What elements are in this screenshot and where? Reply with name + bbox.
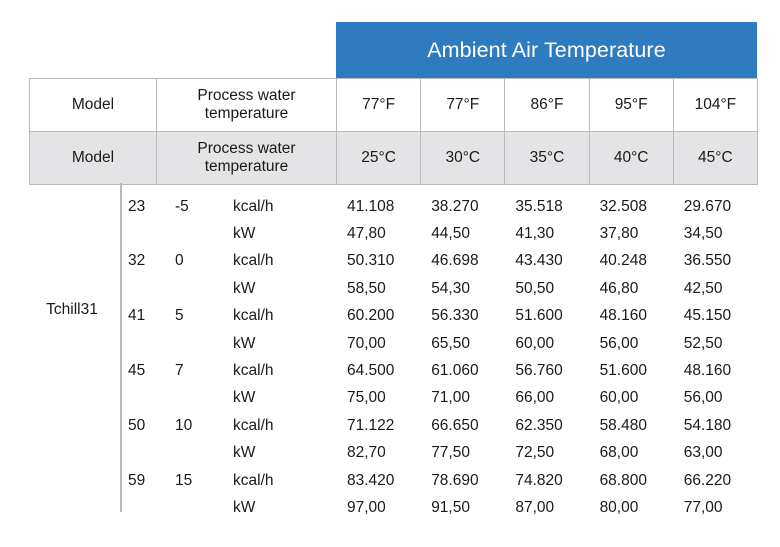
table-row: 5010kcal/h71.12266.65062.35058.48054.180 bbox=[29, 412, 757, 439]
cell-capacity-value: 65,50 bbox=[420, 330, 504, 357]
table-row: 5915kcal/h83.42078.69074.82068.80066.220 bbox=[29, 467, 757, 494]
cell-capacity-value: 71,00 bbox=[420, 385, 504, 412]
header-model-celsius: Model bbox=[30, 132, 157, 185]
row-spacer bbox=[29, 440, 120, 467]
row-spacer bbox=[29, 357, 120, 384]
table-row: kW47,8044,5041,3037,8034,50 bbox=[29, 220, 757, 247]
cell-capacity-value: 60.200 bbox=[336, 303, 420, 330]
cell-capacity-value: 66.220 bbox=[673, 467, 757, 494]
cell-capacity-value: 44,50 bbox=[420, 220, 504, 247]
cell-model bbox=[120, 220, 163, 247]
cell-capacity-value: 75,00 bbox=[336, 385, 420, 412]
cell-capacity-value: 82,70 bbox=[336, 440, 420, 467]
cell-process-water-temperature bbox=[163, 330, 219, 357]
row-spacer bbox=[29, 220, 120, 247]
cell-capacity-value: 78.690 bbox=[420, 467, 504, 494]
cell-model bbox=[120, 330, 163, 357]
header-model-fahrenheit: Model bbox=[30, 79, 157, 132]
cell-model: 59 bbox=[120, 467, 163, 494]
table-row: kW58,5054,3050,5046,8042,50 bbox=[29, 275, 757, 302]
cell-capacity-value: 47,80 bbox=[336, 220, 420, 247]
cell-capacity-value: 56.760 bbox=[504, 357, 588, 384]
cell-process-water-temperature bbox=[163, 275, 219, 302]
table-row: 23-5kcal/h41.10838.27035.51832.50829.670 bbox=[29, 193, 757, 220]
cell-process-water-temperature: 15 bbox=[163, 467, 219, 494]
cell-capacity-value: 61.060 bbox=[420, 357, 504, 384]
table-header: Model Process water temperature 77°F 77°… bbox=[29, 78, 758, 185]
specification-table-sheet: Ambient Air Temperature Model Process wa… bbox=[0, 0, 780, 547]
header-process-water-fahrenheit: Process water temperature bbox=[157, 79, 337, 132]
cell-capacity-value: 48.160 bbox=[673, 357, 757, 384]
cell-unit: kW bbox=[219, 220, 336, 247]
cell-unit: kcal/h bbox=[219, 248, 336, 275]
cell-capacity-value: 50,50 bbox=[504, 275, 588, 302]
cell-unit: kcal/h bbox=[219, 467, 336, 494]
table-body: 23-5kcal/h41.10838.27035.51832.50829.670… bbox=[29, 183, 757, 522]
cell-capacity-value: 64.500 bbox=[336, 357, 420, 384]
cell-process-water-temperature bbox=[163, 385, 219, 412]
header-process-water-label-f: Process water temperature bbox=[157, 87, 336, 124]
cell-capacity-value: 51.600 bbox=[504, 303, 588, 330]
cell-capacity-value: 60,00 bbox=[589, 385, 673, 412]
cell-unit: kcal/h bbox=[219, 193, 336, 220]
cell-capacity-value: 70,00 bbox=[336, 330, 420, 357]
cell-process-water-temperature: 7 bbox=[163, 357, 219, 384]
cell-process-water-temperature: 0 bbox=[163, 248, 219, 275]
cell-capacity-value: 37,80 bbox=[589, 220, 673, 247]
header-row-celsius: Model Process water temperature 25°C 30°… bbox=[30, 132, 758, 185]
row-spacer bbox=[29, 494, 120, 521]
row-spacer bbox=[29, 412, 120, 439]
header-temp-f-1: 77°F bbox=[337, 79, 421, 132]
header-process-water-celsius: Process water temperature bbox=[157, 132, 337, 185]
ambient-air-temperature-banner: Ambient Air Temperature bbox=[336, 22, 757, 78]
cell-capacity-value: 36.550 bbox=[673, 248, 757, 275]
cell-capacity-value: 41.108 bbox=[336, 193, 420, 220]
cell-model bbox=[120, 275, 163, 302]
cell-unit: kW bbox=[219, 275, 336, 302]
cell-capacity-value: 58,50 bbox=[336, 275, 420, 302]
cell-model: 41 bbox=[120, 303, 163, 330]
cell-capacity-value: 71.122 bbox=[336, 412, 420, 439]
cell-unit: kcal/h bbox=[219, 357, 336, 384]
cell-capacity-value: 52,50 bbox=[673, 330, 757, 357]
cell-capacity-value: 51.600 bbox=[589, 357, 673, 384]
cell-capacity-value: 54.180 bbox=[673, 412, 757, 439]
row-spacer bbox=[29, 467, 120, 494]
table-body-area: Tchill31 23-5kcal/h41.10838.27035.51832.… bbox=[29, 183, 757, 523]
header-temp-f-3: 86°F bbox=[505, 79, 589, 132]
cell-capacity-value: 68.800 bbox=[589, 467, 673, 494]
table-row: kW75,0071,0066,0060,0056,00 bbox=[29, 385, 757, 412]
cell-model: 23 bbox=[120, 193, 163, 220]
cell-capacity-value: 74.820 bbox=[504, 467, 588, 494]
cell-capacity-value: 42,50 bbox=[673, 275, 757, 302]
cell-capacity-value: 34,50 bbox=[673, 220, 757, 247]
table-row: 457kcal/h64.50061.06056.76051.60048.160 bbox=[29, 357, 757, 384]
cell-model bbox=[120, 494, 163, 521]
cell-capacity-value: 77,50 bbox=[420, 440, 504, 467]
cell-capacity-value: 54,30 bbox=[420, 275, 504, 302]
cell-process-water-temperature bbox=[163, 220, 219, 247]
header-temp-c-1: 25°C bbox=[337, 132, 421, 185]
cell-capacity-value: 29.670 bbox=[673, 193, 757, 220]
row-spacer bbox=[29, 275, 120, 302]
cell-capacity-value: 68,00 bbox=[589, 440, 673, 467]
cell-capacity-value: 63,00 bbox=[673, 440, 757, 467]
cell-process-water-temperature: 5 bbox=[163, 303, 219, 330]
cell-process-water-temperature bbox=[163, 494, 219, 521]
cell-model bbox=[120, 440, 163, 467]
cell-capacity-value: 62.350 bbox=[504, 412, 588, 439]
body-top-spacer bbox=[29, 183, 757, 193]
row-spacer bbox=[29, 385, 120, 412]
row-spacer bbox=[29, 193, 120, 220]
header-temp-c-2: 30°C bbox=[421, 132, 505, 185]
cell-capacity-value: 35.518 bbox=[504, 193, 588, 220]
cell-capacity-value: 97,00 bbox=[336, 494, 420, 521]
table-row: kW82,7077,5072,5068,0063,00 bbox=[29, 440, 757, 467]
table-row: kW70,0065,5060,0056,0052,50 bbox=[29, 330, 757, 357]
cell-unit: kW bbox=[219, 330, 336, 357]
cell-capacity-value: 66.650 bbox=[420, 412, 504, 439]
cell-model: 50 bbox=[120, 412, 163, 439]
cell-capacity-value: 66,00 bbox=[504, 385, 588, 412]
header-row-fahrenheit: Model Process water temperature 77°F 77°… bbox=[30, 79, 758, 132]
cell-capacity-value: 87,00 bbox=[504, 494, 588, 521]
cell-unit: kcal/h bbox=[219, 412, 336, 439]
cell-capacity-value: 41,30 bbox=[504, 220, 588, 247]
cell-process-water-temperature: 10 bbox=[163, 412, 219, 439]
row-spacer bbox=[29, 330, 120, 357]
header-temp-f-2: 77°F bbox=[421, 79, 505, 132]
cell-capacity-value: 56.330 bbox=[420, 303, 504, 330]
cell-unit: kcal/h bbox=[219, 303, 336, 330]
cell-capacity-value: 60,00 bbox=[504, 330, 588, 357]
table-row: kW97,0091,5087,0080,0077,00 bbox=[29, 494, 757, 521]
cell-process-water-temperature: -5 bbox=[163, 193, 219, 220]
header-temp-c-4: 40°C bbox=[589, 132, 673, 185]
cell-capacity-value: 46,80 bbox=[589, 275, 673, 302]
cell-capacity-value: 72,50 bbox=[504, 440, 588, 467]
row-spacer bbox=[29, 248, 120, 275]
cell-capacity-value: 38.270 bbox=[420, 193, 504, 220]
cell-capacity-value: 56,00 bbox=[589, 330, 673, 357]
cell-capacity-value: 48.160 bbox=[589, 303, 673, 330]
cell-capacity-value: 40.248 bbox=[589, 248, 673, 275]
row-spacer bbox=[29, 303, 120, 330]
cell-capacity-value: 56,00 bbox=[673, 385, 757, 412]
cell-model: 32 bbox=[120, 248, 163, 275]
cell-capacity-value: 58.480 bbox=[589, 412, 673, 439]
table-row: 415kcal/h60.20056.33051.60048.16045.150 bbox=[29, 303, 757, 330]
cell-unit: kW bbox=[219, 494, 336, 521]
banner-title: Ambient Air Temperature bbox=[427, 38, 666, 63]
cell-unit: kW bbox=[219, 440, 336, 467]
table-row: 320kcal/h50.31046.69843.43040.24836.550 bbox=[29, 248, 757, 275]
cell-capacity-value: 77,00 bbox=[673, 494, 757, 521]
cell-model: 45 bbox=[120, 357, 163, 384]
cell-unit: kW bbox=[219, 385, 336, 412]
cell-capacity-value: 45.150 bbox=[673, 303, 757, 330]
header-temp-f-5: 104°F bbox=[673, 79, 757, 132]
cell-capacity-value: 43.430 bbox=[504, 248, 588, 275]
header-temp-c-3: 35°C bbox=[505, 132, 589, 185]
header-temp-c-5: 45°C bbox=[673, 132, 757, 185]
cell-capacity-value: 50.310 bbox=[336, 248, 420, 275]
cell-capacity-value: 46.698 bbox=[420, 248, 504, 275]
cell-capacity-value: 91,50 bbox=[420, 494, 504, 521]
cell-capacity-value: 32.508 bbox=[589, 193, 673, 220]
cell-process-water-temperature bbox=[163, 440, 219, 467]
cell-model bbox=[120, 385, 163, 412]
cell-capacity-value: 83.420 bbox=[336, 467, 420, 494]
header-process-water-label-c: Process water temperature bbox=[157, 140, 336, 177]
header-temp-f-4: 95°F bbox=[589, 79, 673, 132]
cell-capacity-value: 80,00 bbox=[589, 494, 673, 521]
